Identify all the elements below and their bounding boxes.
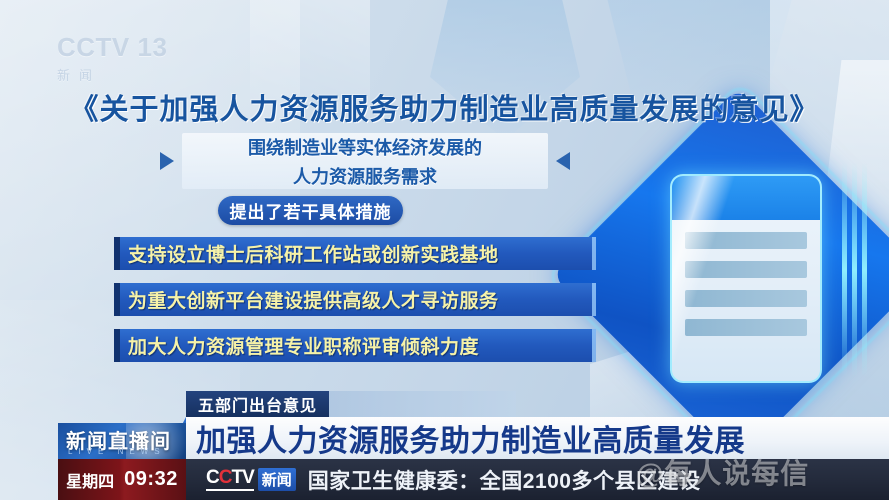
measure-bar: 为重大创新平台建设提供高级人才寻访服务 xyxy=(114,283,596,316)
light-beam xyxy=(862,162,867,377)
measure-bar: 支持设立博士后科研工作站或创新实践基地 xyxy=(114,237,596,270)
ticker-logo: CCTV 新闻 xyxy=(206,468,296,491)
measures-pill: 提出了若干具体措施 xyxy=(218,196,403,225)
ticker-text: 国家卫生健康委：全国2100多个县区建设 xyxy=(308,465,701,495)
broadcast-screen: CCTV 13 新闻 《关于加强人力资源服务助力制造业高质量发展的意见》 围绕制… xyxy=(0,0,889,500)
light-beam xyxy=(852,162,857,377)
triangle-right-icon xyxy=(160,152,174,170)
ticker-logo-cctv: CCTV xyxy=(206,468,254,491)
news-ticker: CCTV 新闻 国家卫生健康委：全国2100多个县区建设 xyxy=(186,459,889,500)
subtitle-line-2: 人力资源服务需求 xyxy=(182,162,548,191)
clock-time: 09:32 xyxy=(124,468,178,491)
channel-logo-main: CCTV 13 xyxy=(57,34,177,60)
kicker-label: 五部门出台意见 xyxy=(186,391,329,417)
page-title: 《关于加强人力资源服务助力制造业高质量发展的意见》 xyxy=(0,86,889,128)
lower-third-headline: 加强人力资源服务助力制造业高质量发展 xyxy=(186,416,745,460)
document-card-line xyxy=(685,319,807,336)
program-logo: 新闻直播间 LIVE NEWS xyxy=(58,423,186,459)
measure-bar-label: 支持设立博士后科研工作站或创新实践基地 xyxy=(114,240,499,267)
measure-bar: 加大人力资源管理专业职称评审倾斜力度 xyxy=(114,329,596,362)
subtitle-panel: 围绕制造业等实体经济发展的 人力资源服务需求 xyxy=(182,133,548,189)
measure-bar-label: 为重大创新平台建设提供高级人才寻访服务 xyxy=(114,286,499,313)
subtitle-block: 围绕制造业等实体经济发展的 人力资源服务需求 xyxy=(160,133,570,189)
subtitle-line-1: 围绕制造业等实体经济发展的 xyxy=(182,133,548,162)
triangle-left-icon xyxy=(556,152,570,170)
document-graphic xyxy=(596,132,889,422)
lower-third-headline-band: 加强人力资源服务助力制造业高质量发展 xyxy=(186,417,889,459)
measures-list: 支持设立博士后科研工作站或创新实践基地 为重大创新平台建设提供高级人才寻访服务 … xyxy=(114,237,596,375)
program-name-sub: LIVE NEWS xyxy=(68,447,166,456)
clock-weekday: 星期四 xyxy=(66,468,114,492)
document-card-icon xyxy=(670,174,822,383)
clock-bar: 星期四 09:32 xyxy=(58,459,186,500)
light-beam xyxy=(842,162,847,377)
channel-logo: CCTV 13 新闻 xyxy=(57,34,177,86)
measure-bar-label: 加大人力资源管理专业职称评审倾斜力度 xyxy=(114,332,479,359)
channel-logo-sub: 新闻 xyxy=(57,65,177,84)
document-card-line xyxy=(685,290,807,307)
ticker-logo-news: 新闻 xyxy=(258,468,296,491)
